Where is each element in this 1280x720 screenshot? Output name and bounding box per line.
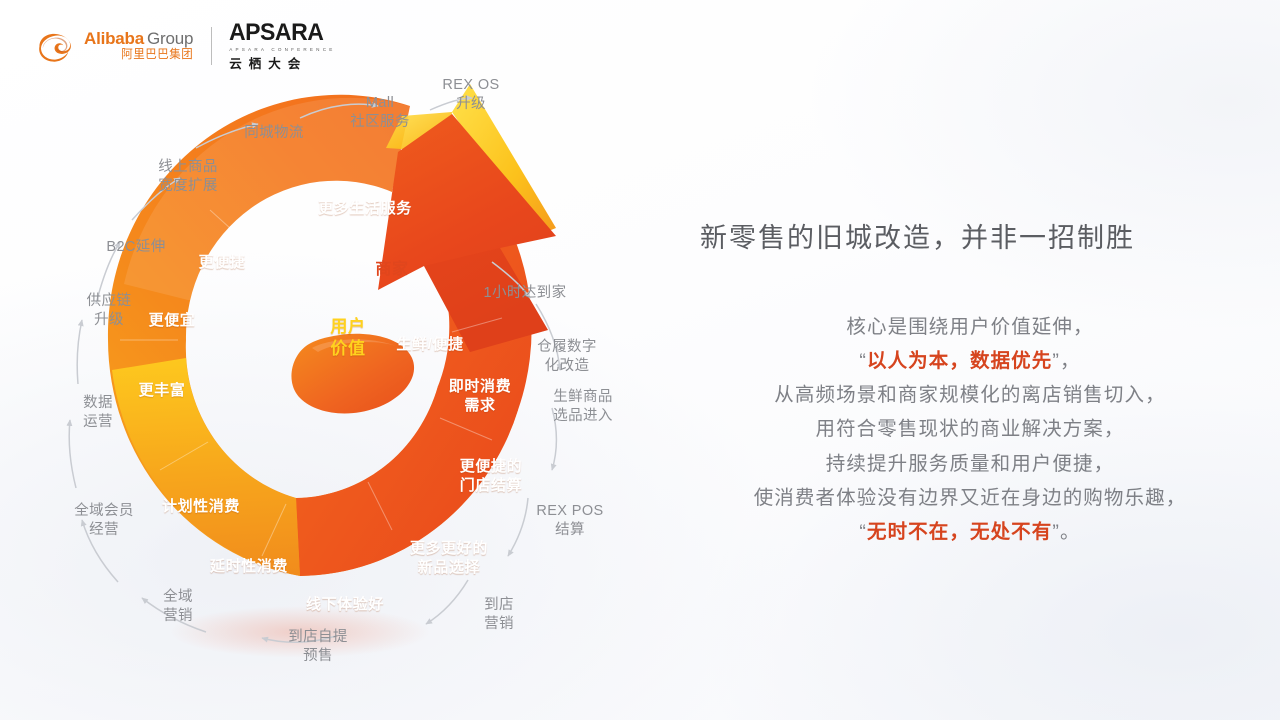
quote-open-1: “ xyxy=(859,350,867,372)
body-line-2: “以人为本，数据优先”， xyxy=(660,344,1280,378)
slide-canvas: AlibabaGroup 阿里巴巴集团 APSARA APSARA CONFER… xyxy=(0,0,1280,720)
outer-label-fresh-goods-selection: 生鲜商品 选品进入 xyxy=(540,388,626,425)
outer-label-mall-community-service: Mall 社区服务 xyxy=(332,94,428,131)
outer-label-rex-pos-settlement: REX POS 结算 xyxy=(528,502,612,539)
page-title: 新零售的旧城改造，并非一招制胜 xyxy=(700,216,1240,255)
quote-open-2: “ xyxy=(859,521,867,543)
highlight-anytime-anywhere: 无时不在，无处不有 xyxy=(867,521,1052,543)
outer-label-online-goods-breadth: 线上商品 宽度扩展 xyxy=(142,158,234,195)
inner-label-delayed-consumption: 延时性消费 xyxy=(196,558,302,577)
outer-label-store-pickup-presale: 到店自提 预售 xyxy=(274,628,362,665)
body-line-3: 从高频场景和商家规模化的离店销售切入， xyxy=(660,378,1280,412)
value-spiral-diagram: 更多生活服务 更便捷 更便宜 更丰富 计划性消费 延时性消费 线下体验好 更多更… xyxy=(0,40,660,710)
inner-label-instant-demand: 即时消费 需求 xyxy=(440,378,520,416)
inner-label-cheaper: 更便宜 xyxy=(136,312,208,331)
body-line-4: 用符合零售现状的商业解决方案， xyxy=(660,412,1280,446)
highlight-people-first-data-first: 以人为本，数据优先 xyxy=(867,350,1052,372)
outer-label-one-hour-delivery: 1小时达到家 xyxy=(470,284,580,303)
body-line-5: 持续提升服务质量和用户便捷， xyxy=(660,447,1280,481)
inner-label-more-better-new-products: 更多更好的 新品选择 xyxy=(400,540,498,578)
outer-label-intracity-logistics: 同城物流 xyxy=(228,124,320,143)
outer-label-supply-chain-upgrade: 供应链 升级 xyxy=(72,292,146,329)
outer-label-b2c-extension: B2C延伸 xyxy=(90,238,182,257)
core-label-user-value: 用户 价值 xyxy=(316,316,380,360)
inner-label-fresh-convenient: 生鲜/便捷 xyxy=(380,336,480,355)
outer-label-data-operations: 数据 运营 xyxy=(68,394,128,431)
inner-label-more-life-services: 更多生活服务 xyxy=(300,200,430,219)
body-paragraph: 核心是围绕用户价值延伸， “以人为本，数据优先”， 从高频场景和商家规模化的离店… xyxy=(660,310,1280,549)
label-merchant: 商家 xyxy=(360,260,424,280)
quote-close-1: ”， xyxy=(1052,350,1080,372)
body-line-1: 核心是围绕用户价值延伸， xyxy=(660,310,1280,344)
outer-label-omnichannel-membership: 全域会员 经营 xyxy=(64,502,144,539)
body-line-6: 使消费者体验没有边界又近在身边的购物乐趣， xyxy=(660,481,1280,515)
inner-label-easier-store-checkout: 更便捷的 门店结算 xyxy=(446,458,536,496)
inner-label-more-convenient: 更便捷 xyxy=(186,254,258,273)
outer-label-rex-os-upgrade: REX OS 升级 xyxy=(426,76,516,113)
inner-label-richer: 更丰富 xyxy=(126,382,198,401)
right-text-column: 新零售的旧城改造，并非一招制胜 核心是围绕用户价值延伸， “以人为本，数据优先”… xyxy=(660,0,1280,720)
outer-label-in-store-marketing: 到店 营销 xyxy=(468,596,530,633)
outer-label-warehouse-digitalization: 仓履数字 化改造 xyxy=(524,338,610,375)
inner-label-planned-consumption: 计划性消费 xyxy=(148,498,254,517)
body-line-7: “无时不在，无处不有”。 xyxy=(660,515,1280,549)
outer-label-omnichannel-marketing: 全域 营销 xyxy=(148,588,208,625)
quote-close-2: ”。 xyxy=(1052,521,1080,543)
inner-label-offline-experience: 线下体验好 xyxy=(292,596,398,615)
